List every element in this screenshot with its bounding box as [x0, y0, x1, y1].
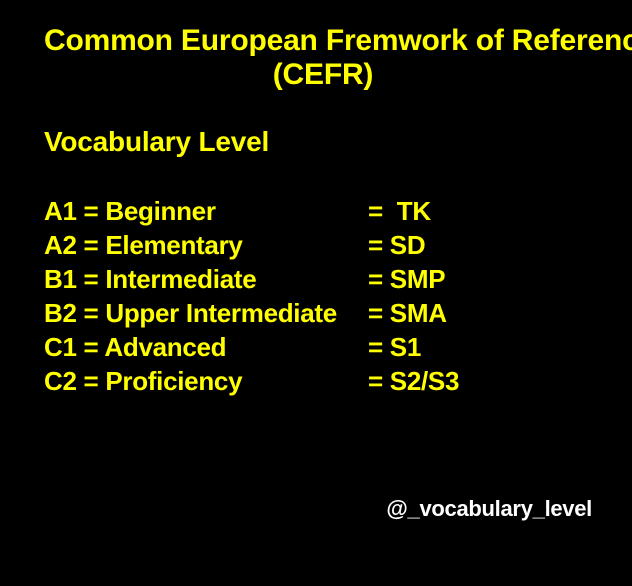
title-line-2: (CEFR) [44, 58, 602, 92]
level-table: A1 = Beginner = TK A2 = Elementary = SD … [44, 194, 584, 398]
social-handle-watermark: @_vocabulary_level [386, 496, 592, 522]
level-equivalent: = S1 [368, 330, 421, 364]
table-row: B2 = Upper Intermediate = SMA [44, 296, 584, 330]
level-equivalent: = SMP [368, 262, 445, 296]
level-equivalent: = SMA [368, 296, 447, 330]
level-description: C2 = Proficiency [44, 364, 242, 398]
slide-canvas: Common European Fremwork of Reference (C… [0, 0, 632, 586]
table-row: A1 = Beginner = TK [44, 194, 584, 228]
level-equivalent: = SD [368, 228, 425, 262]
level-description: A1 = Beginner [44, 194, 216, 228]
table-row: C2 = Proficiency = S2/S3 [44, 364, 584, 398]
level-description: C1 = Advanced [44, 330, 226, 364]
subtitle: Vocabulary Level [44, 126, 269, 158]
table-row: C1 = Advanced = S1 [44, 330, 584, 364]
table-row: B1 = Intermediate = SMP [44, 262, 584, 296]
title-line-1: Common European Fremwork of Reference [44, 24, 602, 58]
level-description: A2 = Elementary [44, 228, 243, 262]
table-row: A2 = Elementary = SD [44, 228, 584, 262]
level-equivalent: = S2/S3 [368, 364, 459, 398]
level-description: B1 = Intermediate [44, 262, 256, 296]
page-title: Common European Fremwork of Reference (C… [44, 24, 602, 92]
level-equivalent: = TK [368, 194, 431, 228]
level-description: B2 = Upper Intermediate [44, 296, 337, 330]
